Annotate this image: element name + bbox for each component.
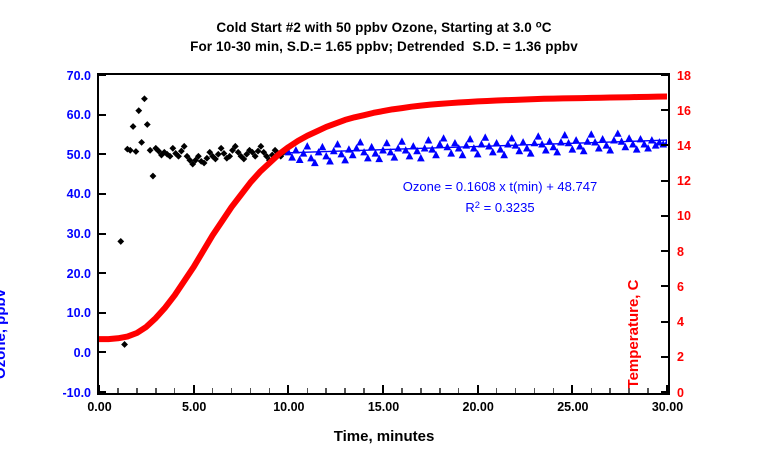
data-point-marker bbox=[534, 132, 542, 139]
data-point-marker bbox=[459, 151, 467, 158]
x-axis-minor-tick bbox=[117, 388, 119, 393]
y-axis-right-tick-label: 2 bbox=[677, 350, 684, 364]
x-axis-minor-tick bbox=[344, 388, 346, 393]
data-point-marker bbox=[383, 139, 391, 146]
data-point-marker bbox=[425, 136, 433, 143]
data-point-marker bbox=[614, 129, 622, 136]
y-axis-right-tick-label: 6 bbox=[677, 280, 684, 294]
data-point-marker bbox=[117, 238, 124, 245]
data-point-marker bbox=[398, 137, 406, 144]
x-axis-minor-tick bbox=[363, 388, 365, 393]
data-point-marker bbox=[584, 137, 592, 144]
x-axis-minor-tick bbox=[136, 388, 138, 393]
y-axis-left-tick-label: 20.0 bbox=[67, 267, 91, 281]
x-axis-major-tick bbox=[666, 385, 668, 393]
r-squared-prefix: R bbox=[465, 200, 474, 215]
x-axis-minor-tick bbox=[269, 388, 271, 393]
plot-area bbox=[97, 73, 670, 395]
y-axis-right-tick bbox=[661, 356, 668, 358]
y-axis-left-tick bbox=[99, 74, 106, 76]
x-axis-minor-tick bbox=[609, 388, 611, 393]
y-axis-left-tick-label: 50.0 bbox=[67, 148, 91, 162]
y-axis-right-tick bbox=[661, 74, 668, 76]
chart-title-line-1: Cold Start #2 with 50 ppbv Ozone, Starti… bbox=[0, 18, 768, 37]
data-point-marker bbox=[319, 143, 327, 150]
x-axis-minor-tick bbox=[534, 388, 536, 393]
x-axis-minor-tick bbox=[401, 388, 403, 393]
x-axis-tick-label: 15.00 bbox=[368, 400, 399, 414]
x-axis-major-tick bbox=[477, 385, 479, 393]
x-axis-major-tick bbox=[287, 385, 289, 393]
ozone-late-markers bbox=[284, 129, 667, 166]
y-axis-right-tick-label: 14 bbox=[677, 139, 691, 153]
x-axis-minor-tick bbox=[231, 388, 233, 393]
r-squared-suffix: = 0.3235 bbox=[480, 200, 535, 215]
data-point-marker bbox=[121, 341, 128, 348]
x-axis-minor-tick bbox=[155, 388, 157, 393]
data-point-marker bbox=[599, 135, 607, 142]
data-point-marker bbox=[147, 147, 154, 154]
y-axis-right-title: Temperature, C bbox=[625, 234, 642, 434]
y-axis-left-tick-label: -10.0 bbox=[63, 386, 92, 400]
x-axis-tick-label: 20.00 bbox=[463, 400, 494, 414]
chart-title: Cold Start #2 with 50 ppbv Ozone, Starti… bbox=[0, 18, 768, 56]
y-axis-right-tick-label: 4 bbox=[677, 315, 684, 329]
ozone-early-markers bbox=[117, 95, 289, 347]
x-axis-minor-tick bbox=[325, 388, 327, 393]
chart-page: Cold Start #2 with 50 ppbv Ozone, Starti… bbox=[0, 0, 768, 467]
data-point-marker bbox=[561, 131, 569, 138]
x-axis-tick-label: 5.00 bbox=[182, 400, 206, 414]
y-axis-left-tick-label: 40.0 bbox=[67, 187, 91, 201]
x-axis-tick-label: 30.00 bbox=[652, 400, 683, 414]
regression-equation: Ozone = 0.1608 x t(min) + 48.747 bbox=[355, 176, 645, 197]
data-point-marker bbox=[470, 144, 478, 151]
x-axis-tick-label: 0.00 bbox=[87, 400, 111, 414]
data-point-marker bbox=[368, 143, 376, 150]
data-point-marker bbox=[144, 121, 151, 128]
data-point-marker bbox=[417, 154, 425, 161]
y-axis-left-tick-label: 60.0 bbox=[67, 108, 91, 122]
data-point-marker bbox=[428, 145, 436, 152]
y-axis-left-tick bbox=[99, 153, 106, 155]
x-axis-tick-label: 10.00 bbox=[273, 400, 304, 414]
y-axis-right-tick bbox=[661, 144, 668, 146]
y-axis-left-tick bbox=[99, 351, 106, 353]
y-axis-left-tick bbox=[99, 193, 106, 195]
y-axis-left-tick bbox=[99, 391, 106, 393]
data-point-marker bbox=[303, 142, 311, 149]
x-axis-major-tick bbox=[571, 385, 573, 393]
chart-title-line-2: For 10-30 min, S.D.= 1.65 ppbv; Detrende… bbox=[0, 37, 768, 56]
x-axis-title: Time, minutes bbox=[0, 428, 768, 445]
data-point-marker bbox=[322, 152, 330, 159]
data-point-marker bbox=[130, 123, 137, 130]
x-axis-major-tick bbox=[193, 385, 195, 393]
x-axis-minor-tick bbox=[496, 388, 498, 393]
y-axis-right-tick bbox=[661, 321, 668, 323]
data-point-marker bbox=[296, 156, 304, 163]
data-point-marker bbox=[625, 134, 633, 141]
chart-title-line-1-post: C bbox=[542, 20, 552, 35]
y-axis-right-tick-label: 16 bbox=[677, 104, 691, 118]
x-axis-minor-tick bbox=[439, 388, 441, 393]
data-point-marker bbox=[356, 138, 364, 145]
x-axis-major-tick bbox=[382, 385, 384, 393]
y-axis-left-title: Ozone, ppbv bbox=[0, 234, 9, 434]
data-point-marker bbox=[508, 134, 516, 141]
data-point-marker bbox=[133, 148, 140, 155]
y-axis-left-tick bbox=[99, 312, 106, 314]
data-point-marker bbox=[451, 139, 459, 146]
data-point-marker bbox=[141, 95, 148, 102]
x-axis-minor-tick bbox=[591, 388, 593, 393]
y-axis-left-tick bbox=[99, 114, 106, 116]
y-axis-right-tick bbox=[661, 250, 668, 252]
x-axis-tick-label: 25.00 bbox=[557, 400, 588, 414]
x-axis-minor-tick bbox=[553, 388, 555, 393]
y-axis-right-tick bbox=[661, 215, 668, 217]
chart-title-line-1-pre: Cold Start #2 with 50 ppbv Ozone, Starti… bbox=[216, 20, 535, 35]
y-axis-left-tick-label: 0.0 bbox=[74, 346, 91, 360]
y-axis-right-tick-label: 8 bbox=[677, 245, 684, 259]
x-axis-minor-tick bbox=[174, 388, 176, 393]
y-axis-right-tick-label: 10 bbox=[677, 209, 691, 223]
y-axis-left-tick-label: 30.0 bbox=[67, 227, 91, 241]
data-point-marker bbox=[402, 146, 410, 153]
y-axis-right-tick-label: 0 bbox=[677, 386, 684, 400]
x-axis-major-tick bbox=[98, 385, 100, 393]
x-axis-minor-tick bbox=[250, 388, 252, 393]
data-point-marker bbox=[587, 130, 595, 137]
data-point-marker bbox=[481, 133, 489, 140]
plot-inner bbox=[99, 75, 668, 393]
y-axis-right-tick bbox=[661, 285, 668, 287]
x-axis-minor-tick bbox=[420, 388, 422, 393]
data-point-marker bbox=[150, 173, 157, 180]
plot-canvas bbox=[99, 75, 667, 392]
data-point-marker bbox=[334, 140, 342, 147]
y-axis-left-tick-label: 70.0 bbox=[67, 69, 91, 83]
data-point-marker bbox=[568, 145, 576, 152]
x-axis-minor-tick bbox=[212, 388, 214, 393]
y-axis-right-tick bbox=[661, 180, 668, 182]
data-point-marker bbox=[466, 135, 474, 142]
data-point-marker bbox=[447, 149, 455, 156]
data-point-marker bbox=[394, 144, 402, 151]
data-point-marker bbox=[307, 154, 315, 161]
data-point-marker bbox=[138, 139, 145, 146]
data-point-marker bbox=[360, 148, 368, 155]
r-squared-value: R2 = 0.3235 bbox=[355, 197, 645, 218]
regression-annotation: Ozone = 0.1608 x t(min) + 48.747 R2 = 0.… bbox=[355, 176, 645, 218]
y-axis-right-tick bbox=[661, 109, 668, 111]
data-point-marker bbox=[135, 107, 142, 114]
data-point-marker bbox=[444, 143, 452, 150]
x-axis-minor-tick bbox=[458, 388, 460, 393]
y-axis-right-tick-label: 12 bbox=[677, 174, 691, 188]
x-axis-minor-tick bbox=[647, 388, 649, 393]
y-axis-left-tick bbox=[99, 272, 106, 274]
y-axis-left-tick-label: 10.0 bbox=[67, 306, 91, 320]
y-axis-right-tick-label: 18 bbox=[677, 69, 691, 83]
data-point-marker bbox=[440, 134, 448, 141]
y-axis-left-tick bbox=[99, 233, 106, 235]
x-axis-minor-tick bbox=[515, 388, 517, 393]
x-axis-minor-tick bbox=[307, 388, 309, 393]
